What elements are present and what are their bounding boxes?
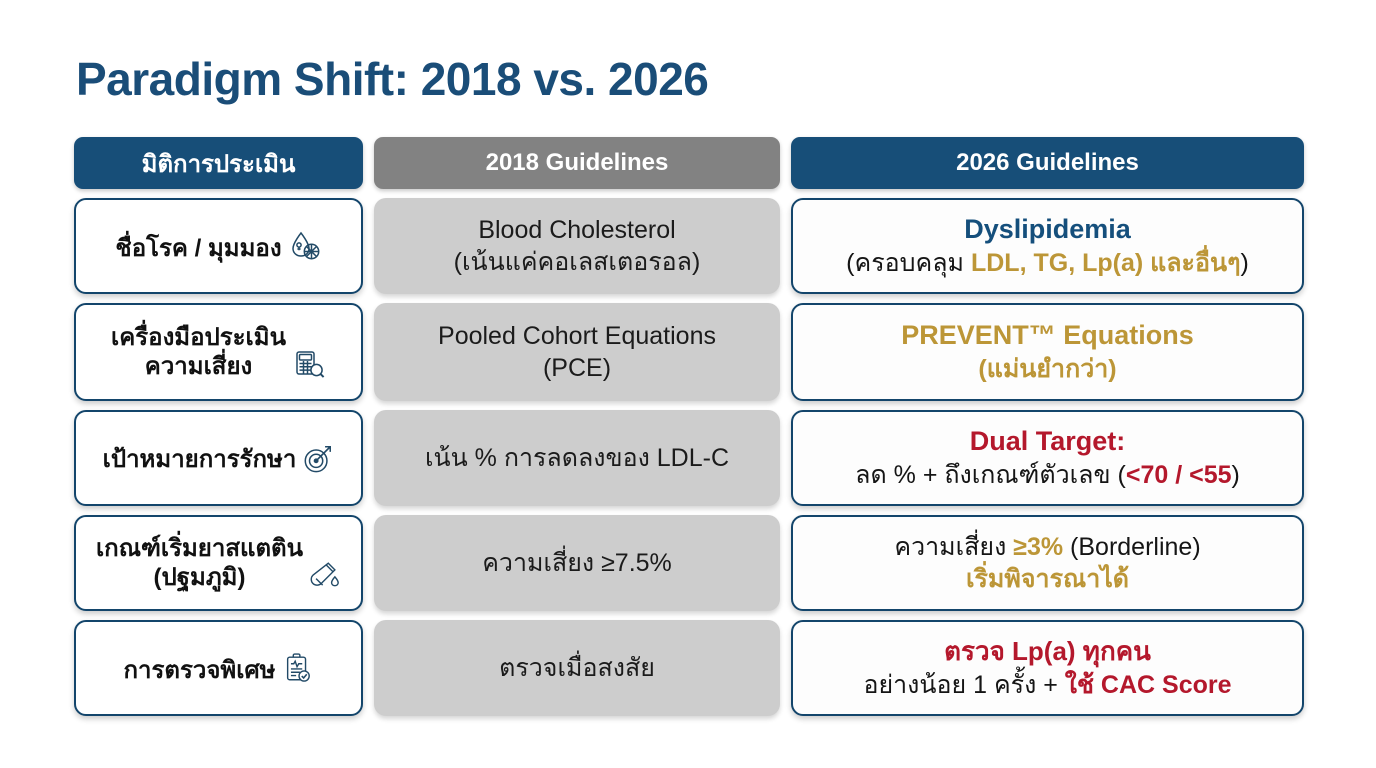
target-dart-icon xyxy=(302,442,334,474)
table-row: การตรวจพิเศษ ตรวจเมื่อสงสัย xyxy=(74,620,1302,716)
old-guideline-cell-2: Pooled Cohort Equations (PCE) xyxy=(374,303,780,401)
comparison-table: มิติการประเมิน 2018 Guidelines 2026 Guid… xyxy=(74,137,1302,716)
new-text-heading: Dyslipidemia xyxy=(846,212,1249,247)
old-text-line1: Blood Cholesterol xyxy=(454,214,701,246)
new-text-detail: (ครอบคลุม LDL, TG, Lp(a) และอื่นๆ) xyxy=(846,247,1249,280)
blood-drop-cell-icon xyxy=(288,229,322,263)
dimension-label-4-line2: (ปฐมภูมิ) xyxy=(96,563,303,592)
new-detail-prefix: (ครอบคลุม xyxy=(846,249,971,277)
new-guideline-cell-4: ความเสี่ยง ≥3% (Borderline) เริ่มพิจารณา… xyxy=(791,515,1304,611)
new-detail-prefix: ลด % + ถึงเกณฑ์ตัวเลข ( xyxy=(855,461,1126,489)
clipboard-check-icon xyxy=(282,651,314,685)
old-text-line2: (PCE) xyxy=(438,352,716,384)
new-text-detail: อย่างน้อย 1 ครั้ง + ใช้ CAC Score xyxy=(863,669,1231,702)
dimension-label-2-line2: ความเสี่ยง xyxy=(111,352,286,381)
old-guideline-cell-1: Blood Cholesterol (เน้นแค่คอเลสเตอรอล) xyxy=(374,198,780,294)
dimension-cell-4: เกณฑ์เริ่มยาสแตติน (ปฐมภูมิ) xyxy=(74,515,363,611)
new-detail-highlight: <70 / <55 xyxy=(1126,461,1232,489)
column-header-2026: 2026 Guidelines xyxy=(791,137,1304,189)
new-detail-highlight: LDL, TG, Lp(a) และอื่นๆ xyxy=(971,249,1241,277)
table-row: เป้าหมายการรักษา เน้น % การลดลงของ LDL-C xyxy=(74,410,1302,506)
table-row: เกณฑ์เริ่มยาสแตติน (ปฐมภูมิ) ความเสี่ยง … xyxy=(74,515,1302,611)
new-text-detail: ลด % + ถึงเกณฑ์ตัวเลข (<70 / <55) xyxy=(855,459,1240,492)
old-text-line2: (เน้นแค่คอเลสเตอรอล) xyxy=(454,246,701,278)
page-title: Paradigm Shift: 2018 vs. 2026 xyxy=(76,52,708,106)
dimension-label-5: การตรวจพิเศษ xyxy=(124,657,276,684)
old-guideline-cell-4: ความเสี่ยง ≥7.5% xyxy=(374,515,780,611)
new-text-heading: Dual Target: xyxy=(855,424,1240,459)
new-text-detail: (แม่นยำกว่า) xyxy=(901,353,1194,386)
new-guideline-cell-2: PREVENT™ Equations (แม่นยำกว่า) xyxy=(791,303,1304,401)
old-text-line1: Pooled Cohort Equations xyxy=(438,320,716,352)
new-text-heading: ความเสี่ยง ≥3% (Borderline) xyxy=(894,531,1200,564)
column-header-dimension: มิติการประเมิน xyxy=(74,137,363,189)
new-text-heading: ตรวจ Lp(a) ทุกคน xyxy=(863,635,1231,669)
new-heading-suffix: (Borderline) xyxy=(1063,533,1201,561)
dimension-cell-2: เครื่องมือประเมิน ความเสี่ยง xyxy=(74,303,363,401)
new-detail-prefix: อย่างน้อย 1 ครั้ง + xyxy=(863,671,1064,699)
new-detail-suffix: ) xyxy=(1232,461,1240,489)
old-guideline-cell-3: เน้น % การลดลงของ LDL-C xyxy=(374,410,780,506)
new-guideline-cell-1: Dyslipidemia (ครอบคลุม LDL, TG, Lp(a) แล… xyxy=(791,198,1304,294)
calculator-search-icon xyxy=(292,347,326,381)
dimension-label-2-line1: เครื่องมือประเมิน xyxy=(111,323,286,352)
old-text-line1: ความเสี่ยง ≥7.5% xyxy=(482,547,672,579)
table-header-row: มิติการประเมิน 2018 Guidelines 2026 Guid… xyxy=(74,137,1302,189)
old-guideline-cell-5: ตรวจเมื่อสงสัย xyxy=(374,620,780,716)
new-guideline-cell-5: ตรวจ Lp(a) ทุกคน อย่างน้อย 1 ครั้ง + ใช้… xyxy=(791,620,1304,716)
slide-root: Paradigm Shift: 2018 vs. 2026 มิติการประ… xyxy=(0,0,1376,768)
new-detail-suffix: ) xyxy=(1241,249,1249,277)
new-heading-prefix: ความเสี่ยง xyxy=(894,533,1013,561)
test-tube-icon xyxy=(309,558,341,592)
dimension-cell-3: เป้าหมายการรักษา xyxy=(74,410,363,506)
dimension-cell-5: การตรวจพิเศษ xyxy=(74,620,363,716)
new-guideline-cell-3: Dual Target: ลด % + ถึงเกณฑ์ตัวเลข (<70 … xyxy=(791,410,1304,506)
dimension-cell-1: ชื่อโรค / มุมมอง xyxy=(74,198,363,294)
old-text-line1: เน้น % การลดลงของ LDL-C xyxy=(425,442,729,474)
new-heading-highlight: ≥3% xyxy=(1013,533,1063,561)
table-row: ชื่อโรค / มุมมอง Blood Cholesterol (เน้น… xyxy=(74,198,1302,294)
new-text-heading: PREVENT™ Equations xyxy=(901,318,1194,353)
table-row: เครื่องมือประเมิน ความเสี่ยง Pooled Coho… xyxy=(74,303,1302,401)
dimension-label-1: ชื่อโรค / มุมมอง xyxy=(115,235,281,262)
dimension-label-3: เป้าหมายการรักษา xyxy=(103,446,297,473)
dimension-label-4-line1: เกณฑ์เริ่มยาสแตติน xyxy=(96,534,303,563)
column-header-2018: 2018 Guidelines xyxy=(374,137,780,189)
new-detail-highlight: ใช้ CAC Score xyxy=(1065,671,1232,699)
new-text-detail: เริ่มพิจารณาได้ xyxy=(894,563,1200,596)
old-text-line1: ตรวจเมื่อสงสัย xyxy=(499,652,655,684)
